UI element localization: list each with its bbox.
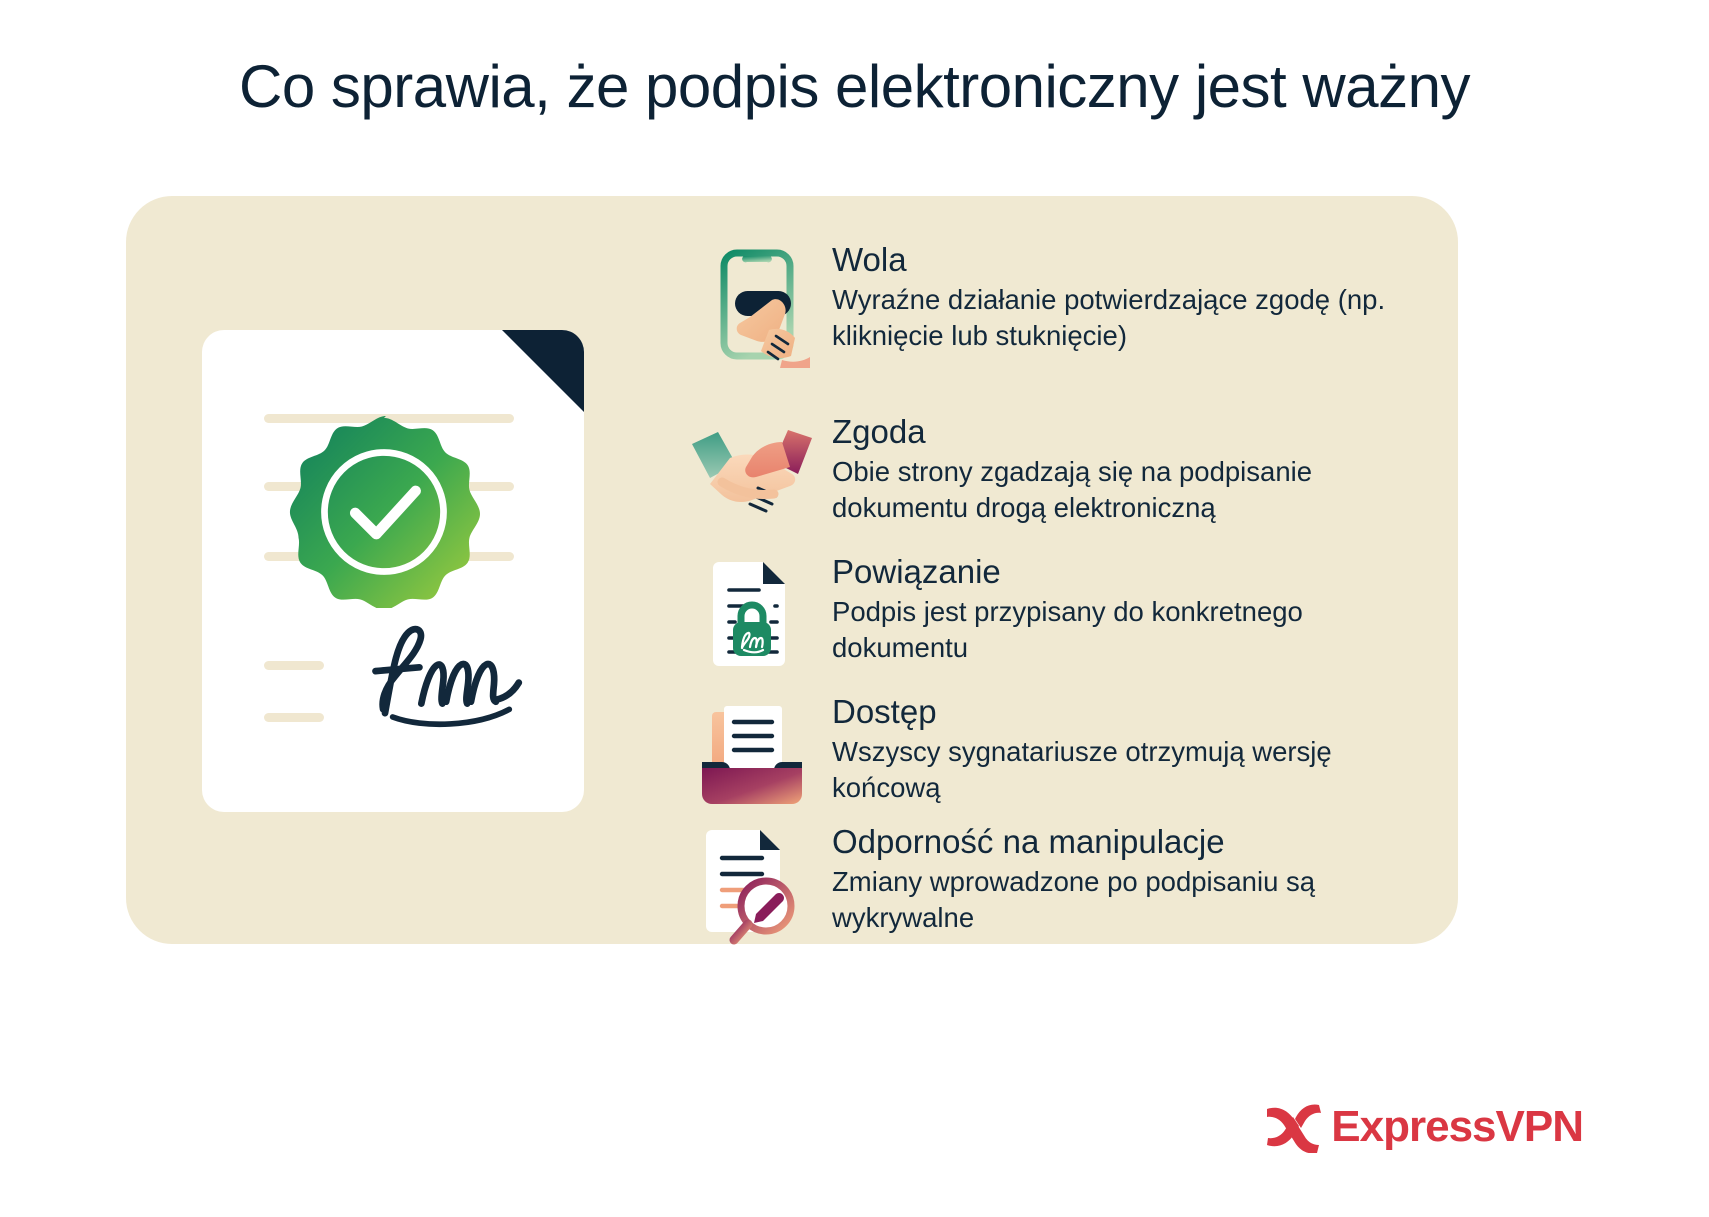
list-item: Odporność na manipulacje Zmiany wprowadz… bbox=[686, 818, 1436, 950]
list-item-description: Wszyscy sygnatariusze otrzymują wersję k… bbox=[832, 734, 1432, 807]
list-item-description: Podpis jest przypisany do konkretnego do… bbox=[832, 594, 1432, 667]
handshake-icon bbox=[686, 408, 818, 540]
list-item-text: Wola Wyraźne działanie potwierdzające zg… bbox=[818, 236, 1432, 355]
doc-text-line bbox=[264, 713, 324, 722]
list-item-title: Odporność na manipulacje bbox=[832, 824, 1432, 861]
handwritten-signature-icon bbox=[364, 620, 536, 728]
list-item: Powiązanie Podpis jest przypisany do kon… bbox=[686, 548, 1436, 680]
content-panel: Wola Wyraźne działanie potwierdzające zg… bbox=[126, 196, 1458, 944]
list-item-description: Wyraźne działanie potwierdzające zgodę (… bbox=[832, 282, 1432, 355]
phone-tap-icon bbox=[686, 236, 818, 368]
brand-name: ExpressVPN bbox=[1331, 1105, 1583, 1149]
list-item-text: Zgoda Obie strony zgadzają się na podpis… bbox=[818, 408, 1432, 527]
document-lock-icon bbox=[686, 548, 818, 680]
infographic-page: Co sprawia, że podpis elektroniczny jest… bbox=[0, 0, 1709, 1217]
page-title: Co sprawia, że podpis elektroniczny jest… bbox=[0, 52, 1709, 121]
page-fold-corner bbox=[502, 330, 584, 412]
list-item-title: Wola bbox=[832, 242, 1432, 279]
list-item: Wola Wyraźne działanie potwierdzające zg… bbox=[686, 236, 1436, 368]
doc-text-line bbox=[264, 661, 324, 670]
list-item-text: Odporność na manipulacje Zmiany wprowadz… bbox=[818, 818, 1432, 937]
list-item: Zgoda Obie strony zgadzają się na podpis… bbox=[686, 408, 1436, 540]
list-item-description: Obie strony zgadzają się na podpisanie d… bbox=[832, 454, 1432, 527]
document-magnifier-icon bbox=[686, 818, 818, 950]
list-item-title: Dostęp bbox=[832, 694, 1432, 731]
check-seal-icon bbox=[288, 416, 480, 608]
expressvpn-logo-icon bbox=[1263, 1101, 1321, 1153]
list-item-text: Powiązanie Podpis jest przypisany do kon… bbox=[818, 548, 1432, 667]
list-item-title: Powiązanie bbox=[832, 554, 1432, 591]
list-item: Dostęp Wszyscy sygnatariusze otrzymują w… bbox=[686, 688, 1436, 820]
signed-document-illustration bbox=[202, 330, 584, 812]
brand-logo: ExpressVPN bbox=[1263, 1101, 1583, 1153]
list-item-title: Zgoda bbox=[832, 414, 1432, 451]
list-item-text: Dostęp Wszyscy sygnatariusze otrzymują w… bbox=[818, 688, 1432, 807]
list-item-description: Zmiany wprowadzone po podpisaniu są wykr… bbox=[832, 864, 1432, 937]
document-tray-icon bbox=[686, 688, 818, 820]
